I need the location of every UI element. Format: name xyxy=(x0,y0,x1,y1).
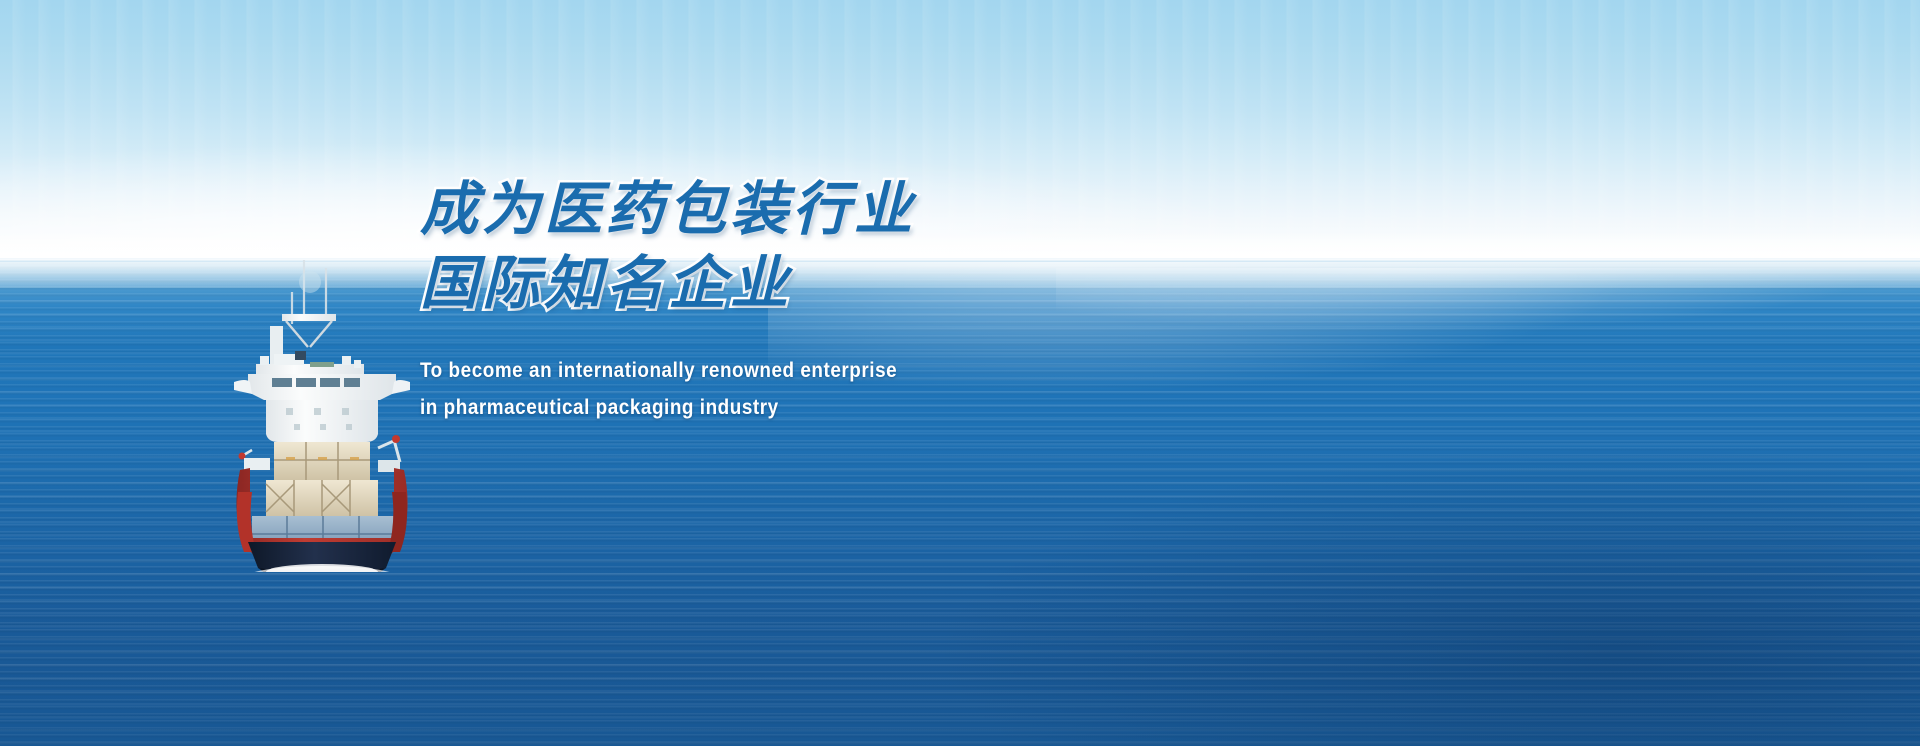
subtitle-line-2: in pharmaceutical packaging industry xyxy=(420,389,1230,426)
subtitle-line-1: To become an internationally renowned en… xyxy=(420,352,1230,389)
hero-banner: 成为医药包装行业 国际知名企业 To become an internation… xyxy=(0,0,1920,746)
banner-subtitle: To become an internationally renowned en… xyxy=(420,352,1230,426)
headline-line-1: 成为医药包装行业 xyxy=(420,174,1320,246)
banner-headline: 成为医药包装行业 国际知名企业 xyxy=(420,174,1320,320)
banner-copy: 成为医药包装行业 国际知名企业 To become an internation… xyxy=(420,174,1320,426)
headline-line-2: 国际知名企业 xyxy=(420,248,1320,320)
sea-shadow-bottom xyxy=(0,596,1920,746)
